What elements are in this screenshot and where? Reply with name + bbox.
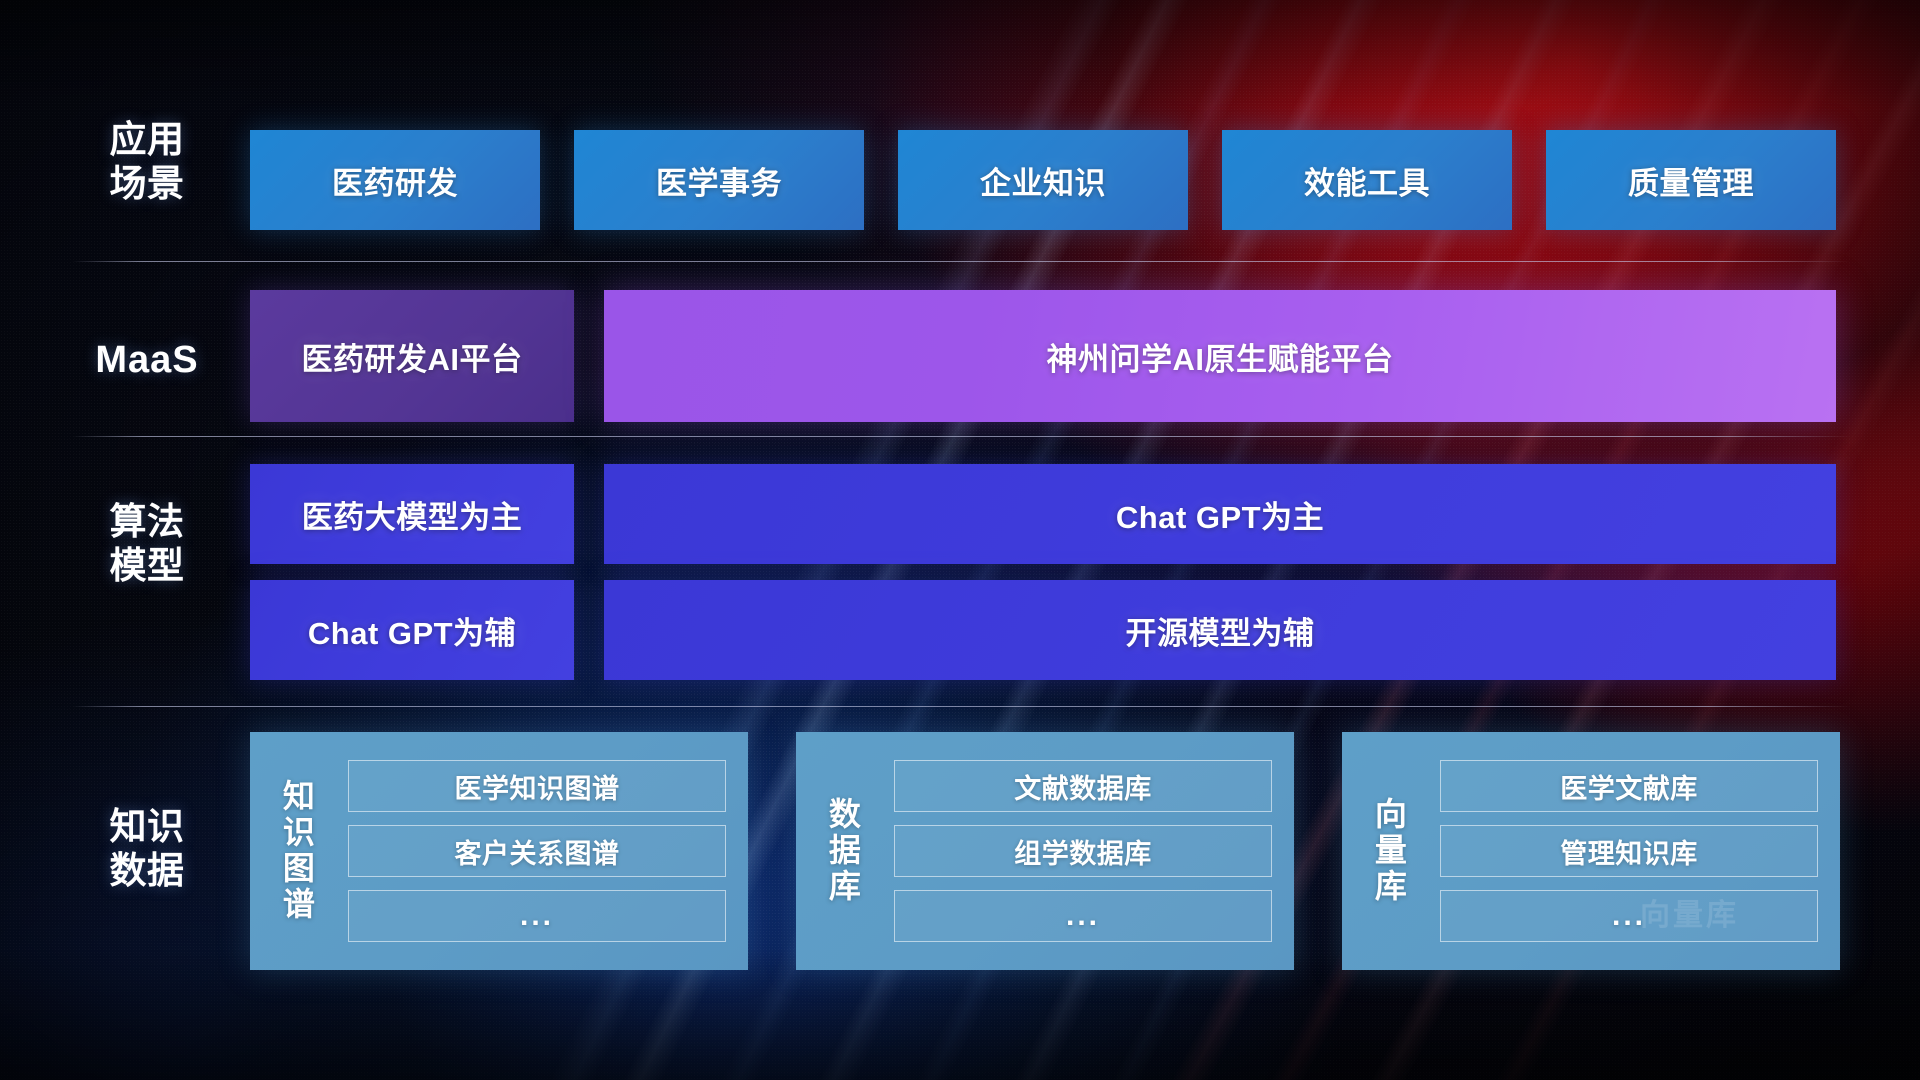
- knowledge-item[interactable]: 文献数据库: [894, 760, 1272, 812]
- maas-main-tile[interactable]: 神州问学AI原生赋能平台: [604, 290, 1836, 422]
- app-tile-4-label: 效能工具: [1304, 158, 1430, 203]
- knowledge-panel-database-items: 文献数据库 组学数据库 ...: [888, 742, 1294, 960]
- knowledge-item[interactable]: 医学文献库: [1440, 760, 1818, 812]
- knowledge-panel-vector-items: 医学文献库 管理知识库 ...: [1434, 742, 1840, 960]
- knowledge-item-more[interactable]: ...: [1440, 890, 1818, 942]
- app-tile-3-label: 企业知识: [980, 158, 1106, 203]
- knowledge-panel-database-label: 数据库: [796, 732, 888, 970]
- knowledge-item[interactable]: 管理知识库: [1440, 825, 1818, 877]
- divider-maas-algorithm: [72, 436, 1850, 437]
- knowledge-panel-vector-label: 向量库: [1342, 732, 1434, 970]
- app-tile-5[interactable]: 质量管理: [1546, 130, 1836, 230]
- row-label-maas: MaaS: [72, 338, 222, 383]
- app-tile-5-label: 质量管理: [1628, 158, 1754, 203]
- maas-left-tile-label: 医药研发AI平台: [302, 334, 523, 379]
- knowledge-panel-vector[interactable]: 向量库 医学文献库 管理知识库 ...: [1342, 732, 1840, 970]
- algo-tile-secondary-domain[interactable]: Chat GPT为辅: [250, 580, 574, 680]
- knowledge-item[interactable]: 医学知识图谱: [348, 760, 726, 812]
- algo-tile-primary-general[interactable]: Chat GPT为主: [604, 464, 1836, 564]
- knowledge-panel-graph[interactable]: 知识图谱 医学知识图谱 客户关系图谱 ...: [250, 732, 748, 970]
- app-tile-4[interactable]: 效能工具: [1222, 130, 1512, 230]
- divider-application-maas: [72, 261, 1850, 262]
- algo-tile-primary-general-label: Chat GPT为主: [1116, 492, 1324, 537]
- app-tile-1-label: 医药研发: [332, 158, 458, 203]
- row-label-application: 应用 场景: [72, 118, 222, 205]
- app-tile-2[interactable]: 医学事务: [574, 130, 864, 230]
- row-label-algorithm: 算法 模型: [72, 500, 222, 587]
- algo-tile-secondary-general-label: 开源模型为辅: [1126, 608, 1315, 653]
- knowledge-item-more[interactable]: ...: [894, 890, 1272, 942]
- knowledge-item[interactable]: 客户关系图谱: [348, 825, 726, 877]
- app-tile-2-label: 医学事务: [656, 158, 782, 203]
- knowledge-item-more[interactable]: ...: [348, 890, 726, 942]
- row-label-knowledge: 知识 数据: [72, 805, 222, 892]
- slide-canvas: 应用 场景 医药研发 医学事务 企业知识 效能工具 质量管理 MaaS 医药研发…: [0, 0, 1920, 1080]
- maas-left-tile[interactable]: 医药研发AI平台: [250, 290, 574, 422]
- algo-tile-secondary-general[interactable]: 开源模型为辅: [604, 580, 1836, 680]
- algo-tile-primary-domain-label: 医药大模型为主: [302, 492, 523, 537]
- knowledge-panel-database[interactable]: 数据库 文献数据库 组学数据库 ...: [796, 732, 1294, 970]
- knowledge-item[interactable]: 组学数据库: [894, 825, 1272, 877]
- algo-tile-secondary-domain-label: Chat GPT为辅: [308, 608, 516, 653]
- app-tile-1[interactable]: 医药研发: [250, 130, 540, 230]
- knowledge-panel-graph-items: 医学知识图谱 客户关系图谱 ...: [342, 742, 748, 960]
- architecture-diagram: 应用 场景 医药研发 医学事务 企业知识 效能工具 质量管理 MaaS 医药研发…: [0, 0, 1920, 1080]
- divider-algorithm-knowledge: [72, 706, 1850, 707]
- maas-main-tile-label: 神州问学AI原生赋能平台: [1047, 334, 1394, 379]
- algo-tile-primary-domain[interactable]: 医药大模型为主: [250, 464, 574, 564]
- app-tile-3[interactable]: 企业知识: [898, 130, 1188, 230]
- knowledge-panel-graph-label: 知识图谱: [250, 732, 342, 970]
